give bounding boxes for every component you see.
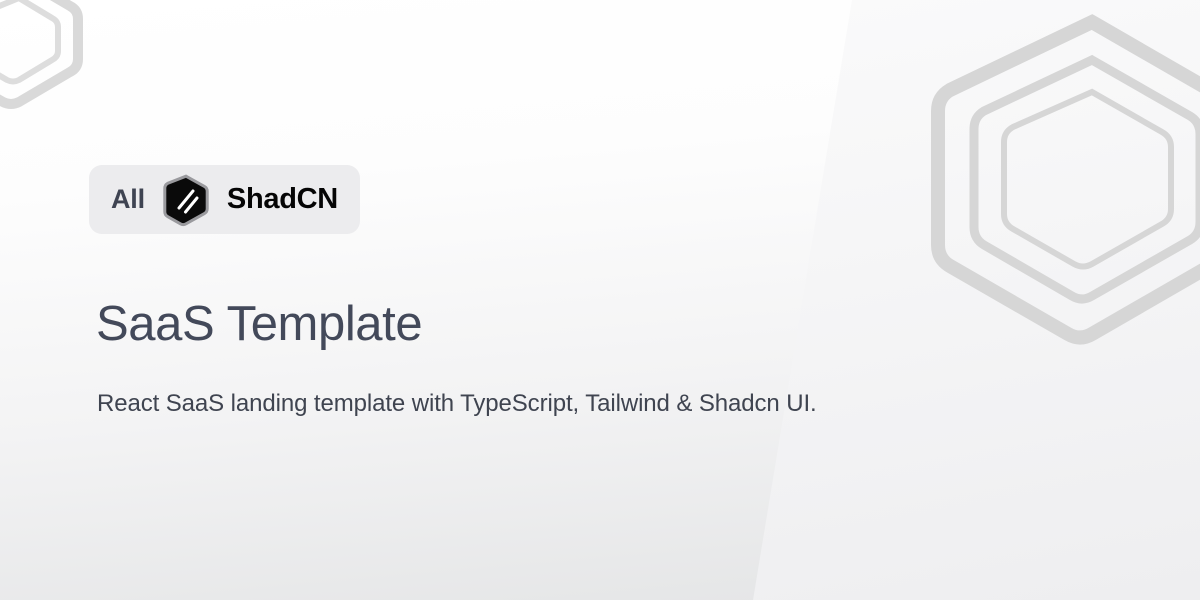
shadcn-hexagon-logo-icon — [159, 173, 213, 227]
category-badge[interactable]: All ShadCN — [89, 165, 360, 234]
hexagon-outline-icon — [0, 0, 94, 114]
badge-prefix-label: All — [111, 186, 145, 213]
badge-name-label: ShadCN — [227, 185, 338, 214]
page-description: React SaaS landing template with TypeScr… — [97, 385, 857, 424]
hero-banner: All ShadCN SaaS Template React SaaS land… — [0, 0, 1200, 600]
page-title: SaaS Template — [96, 298, 422, 352]
